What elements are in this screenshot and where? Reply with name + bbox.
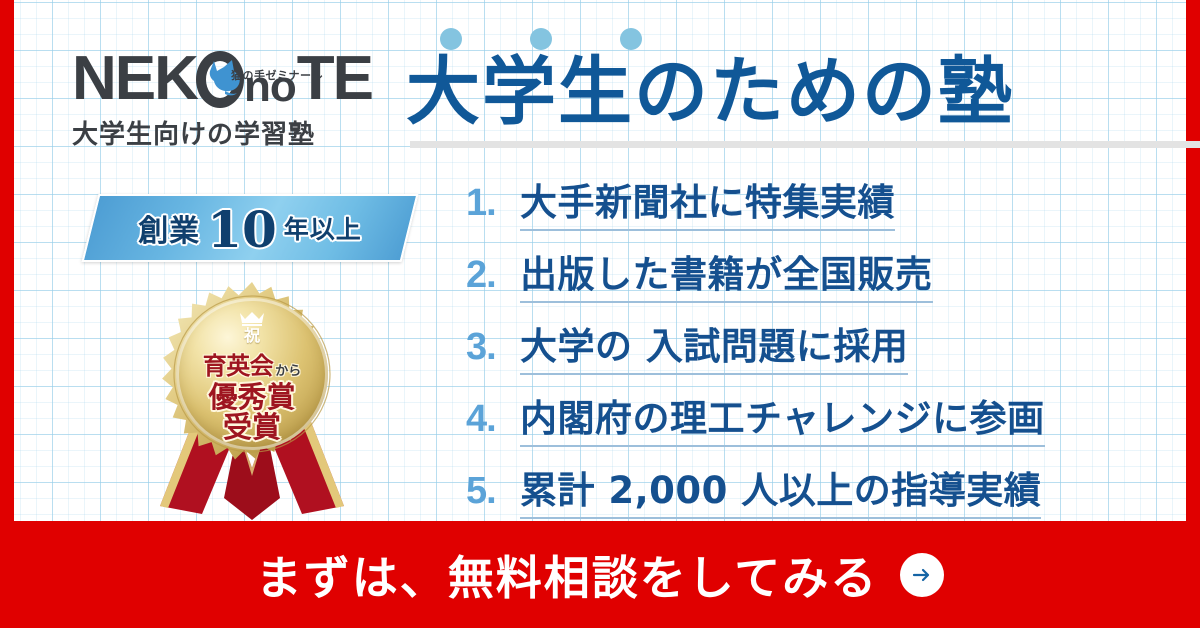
list-item: 3. 大学の 入試問題に採用 xyxy=(466,316,1106,375)
dot-3-icon xyxy=(620,28,642,50)
logo-wordmark: NEK no TE 猫の手ゼミナール xyxy=(72,48,372,110)
dot-1-icon xyxy=(440,28,462,50)
headline-dots xyxy=(440,28,642,50)
brand-tagline: 大学生向けの学習塾 xyxy=(72,114,372,151)
list-item-number: 4. xyxy=(466,398,520,441)
award-medal: 祝 育英会 から 優秀賞 受賞 xyxy=(142,282,362,522)
list-item: 4. 内閣府の理工チャレンジに参画 xyxy=(466,388,1106,447)
logo-text-nek: NEK xyxy=(72,48,197,110)
medal-seal: 祝 育英会 から 優秀賞 受賞 xyxy=(160,282,344,466)
founded-years-badge: 創業 10 年以上 xyxy=(82,194,419,262)
list-item-number: 3. xyxy=(466,326,520,369)
page-title: 大学生のための塾 xyxy=(406,52,1014,132)
medal-celebrate-text: 祝 xyxy=(244,327,260,344)
medal-received-label: 受賞 xyxy=(223,412,281,442)
founded-number: 10 xyxy=(204,205,280,255)
medal-organization: 育英会 xyxy=(203,346,274,381)
medal-from-label: から xyxy=(275,360,301,379)
list-item: 1. 大手新聞社に特集実績 xyxy=(466,172,1106,231)
cta-label: まずは、無料相談をしてみる xyxy=(256,542,879,608)
medal-face: 祝 育英会 から 優秀賞 受賞 xyxy=(176,298,328,450)
medal-prize-name: 優秀賞 xyxy=(208,382,295,412)
list-item: 5. 累計 2,000 人以上の指導実績 xyxy=(466,460,1106,519)
title-divider xyxy=(410,141,1200,148)
list-item-label: 内閣府の理工チャレンジに参画 xyxy=(520,388,1045,447)
list-item-number: 2. xyxy=(466,254,520,297)
list-item: 2. 出版した書籍が全国販売 xyxy=(466,244,1106,303)
logo-subtext-jp: 猫の手ゼミナール xyxy=(231,45,323,107)
promo-banner: NEK no TE 猫の手ゼミナール 大学生向けの学習塾 創業 10 年以上 xyxy=(0,0,1200,628)
brand-logo: NEK no TE 猫の手ゼミナール 大学生向けの学習塾 xyxy=(72,48,372,151)
arrow-right-icon[interactable] xyxy=(900,553,944,597)
list-item-number: 5. xyxy=(466,470,520,513)
founded-prefix: 創業 xyxy=(138,206,200,250)
cta-bar[interactable]: まずは、無料相談をしてみる xyxy=(0,521,1200,628)
list-item-label: 累計 2,000 人以上の指導実績 xyxy=(520,460,1041,519)
list-item-label: 大学の 入試問題に採用 xyxy=(520,316,908,375)
list-item-label: 大手新聞社に特集実績 xyxy=(520,172,895,231)
founded-suffix: 年以上 xyxy=(284,210,362,246)
list-item-label: 出版した書籍が全国販売 xyxy=(520,244,933,303)
crown-icon xyxy=(239,311,265,326)
list-item-number: 1. xyxy=(466,182,520,225)
achievement-list: 1. 大手新聞社に特集実績 2. 出版した書籍が全国販売 3. 大学の 入試問題… xyxy=(466,172,1106,532)
dot-2-icon xyxy=(530,28,552,50)
